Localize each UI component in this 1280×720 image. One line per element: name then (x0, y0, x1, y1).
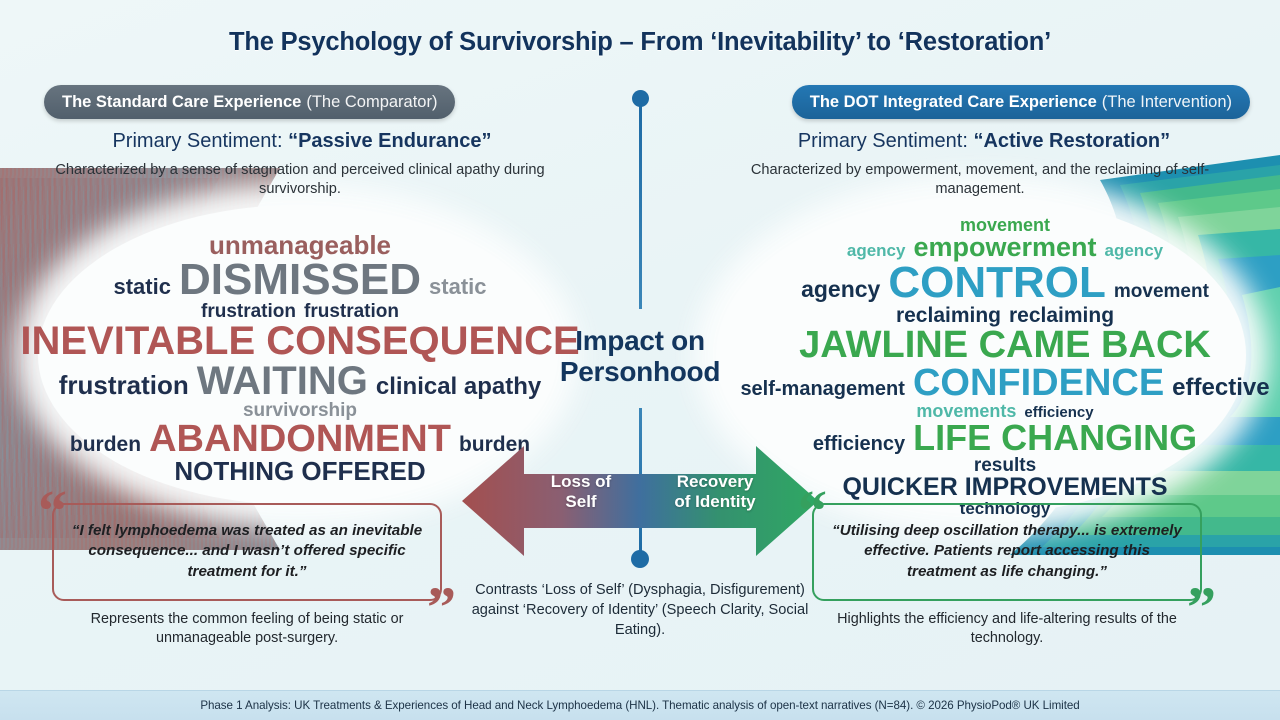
center-label: Impact on Personhood (490, 325, 790, 388)
wordcloud-word: NOTHING OFFERED (174, 458, 425, 484)
badge-dot-light: (The Intervention) (1102, 93, 1232, 112)
arrow-left-line1: Loss of (521, 472, 641, 492)
badge-standard-care: The Standard Care Experience (The Compar… (44, 85, 455, 119)
wordcloud-row: reclaimingreclaiming (760, 305, 1250, 326)
right-sentiment-value: “Active Restoration” (973, 130, 1170, 152)
wordcloud-word: burden (70, 434, 141, 455)
left-description: Characterized by a sense of stagnation a… (40, 161, 560, 200)
quote-close-icon: ” (1187, 588, 1216, 629)
wordcloud-word: agency (847, 242, 906, 259)
wordcloud-row: efficiencyLIFE CHANGING (760, 420, 1250, 456)
wordcloud-word: agency (801, 278, 880, 301)
wordcloud-row: agencyempowermentagency (760, 234, 1250, 261)
wordcloud-row: INEVITABLE CONSEQUENCE (60, 321, 540, 361)
wordcloud-word: reclaiming (896, 305, 1001, 326)
wordcloud-word: efficiency (813, 434, 905, 454)
page-title: The Psychology of Survivorship – From ‘I… (0, 28, 1280, 57)
wordcloud-word: static (113, 276, 170, 298)
quote-close-icon: ” (427, 588, 456, 629)
arrow-right-line2: of Identity (648, 492, 782, 512)
wordcloud-word: CONFIDENCE (913, 364, 1164, 402)
center-label-line2: Personhood (490, 356, 790, 387)
wordcloud-word: QUICKER IMPROVEMENTS (842, 475, 1167, 500)
infographic-canvas: The Psychology of Survivorship – From ‘I… (0, 0, 1280, 720)
badge-standard-care-light: (The Comparator) (306, 93, 437, 112)
wordcloud-row: QUICKER IMPROVEMENTS (760, 475, 1250, 500)
wordcloud-row: frustrationWAITINGclinical apathy (60, 361, 540, 401)
arrow-right-line1: Recovery (648, 472, 782, 492)
quote-open-icon: “ (798, 491, 827, 532)
quote-box-right: “ “Utilising deep oscillation therapy...… (812, 503, 1202, 601)
quote-caption-right: Highlights the efficiency and life-alter… (812, 610, 1202, 647)
wordcloud-word: effective (1172, 376, 1269, 400)
wordcloud-word: LIFE CHANGING (913, 420, 1197, 456)
wordcloud-dot-care: movementagencyempowermentagencyagencyCON… (760, 216, 1250, 517)
right-description: Characterized by empowerment, movement, … (720, 161, 1240, 200)
wordcloud-word: CONTROL (888, 261, 1106, 305)
footer-note: Phase 1 Analysis: UK Treatments & Experi… (0, 690, 1280, 720)
quote-card-standard-care: “ “I felt lymphoedema was treated as an … (52, 503, 442, 647)
wordcloud-word: ABANDONMENT (149, 420, 451, 458)
arrow-label-recovery-of-identity: Recovery of Identity (648, 472, 782, 511)
badge-dot-integrated-care: The DOT Integrated Care Experience (The … (792, 85, 1250, 119)
quote-text-right: “Utilising deep oscillation therapy... i… (830, 521, 1184, 582)
arrow-label-loss-of-self: Loss of Self (521, 472, 641, 511)
wordcloud-row: self-managementCONFIDENCEeffective (760, 364, 1250, 402)
right-sentiment-prefix: Primary Sentiment: (798, 130, 974, 152)
wordcloud-word: DISMISSED (179, 258, 421, 302)
center-caption: Contrasts ‘Loss of Self’ (Dysphagia, Dis… (470, 580, 810, 640)
right-sentiment: Primary Sentiment: “Active Restoration” (704, 130, 1264, 153)
wordcloud-row: JAWLINE CAME BACK (760, 326, 1250, 364)
center-label-line1: Impact on (490, 325, 790, 356)
wordcloud-word: WAITING (197, 361, 368, 401)
quote-card-dot-care: “ “Utilising deep oscillation therapy...… (812, 503, 1202, 647)
quote-text-left: “I felt lymphoedema was treated as an in… (70, 521, 424, 582)
wordcloud-word: static (429, 276, 486, 298)
wordcloud-word: JAWLINE CAME BACK (799, 326, 1211, 364)
wordcloud-word: reclaiming (1009, 305, 1114, 326)
wordcloud-word: frustration (59, 372, 189, 398)
left-sentiment-prefix: Primary Sentiment: (112, 130, 288, 152)
wordcloud-word: empowerment (913, 234, 1096, 261)
quote-box-left: “ “I felt lymphoedema was treated as an … (52, 503, 442, 601)
wordcloud-word: movement (1114, 282, 1209, 301)
connector-line-top (639, 104, 642, 309)
wordcloud-row: staticDISMISSEDstatic (60, 258, 540, 302)
wordcloud-word: agency (1105, 242, 1164, 259)
badge-standard-care-bold: The Standard Care Experience (62, 93, 301, 112)
left-sentiment-value: “Passive Endurance” (288, 130, 491, 152)
quote-caption-left: Represents the common feeling of being s… (52, 610, 442, 647)
badge-dot-bold: The DOT Integrated Care Experience (810, 93, 1097, 112)
quote-open-icon: “ (38, 491, 67, 532)
arrow-left-line2: Self (521, 492, 641, 512)
wordcloud-row: agencyCONTROLmovement (760, 261, 1250, 305)
left-sentiment: Primary Sentiment: “Passive Endurance” (22, 130, 582, 153)
